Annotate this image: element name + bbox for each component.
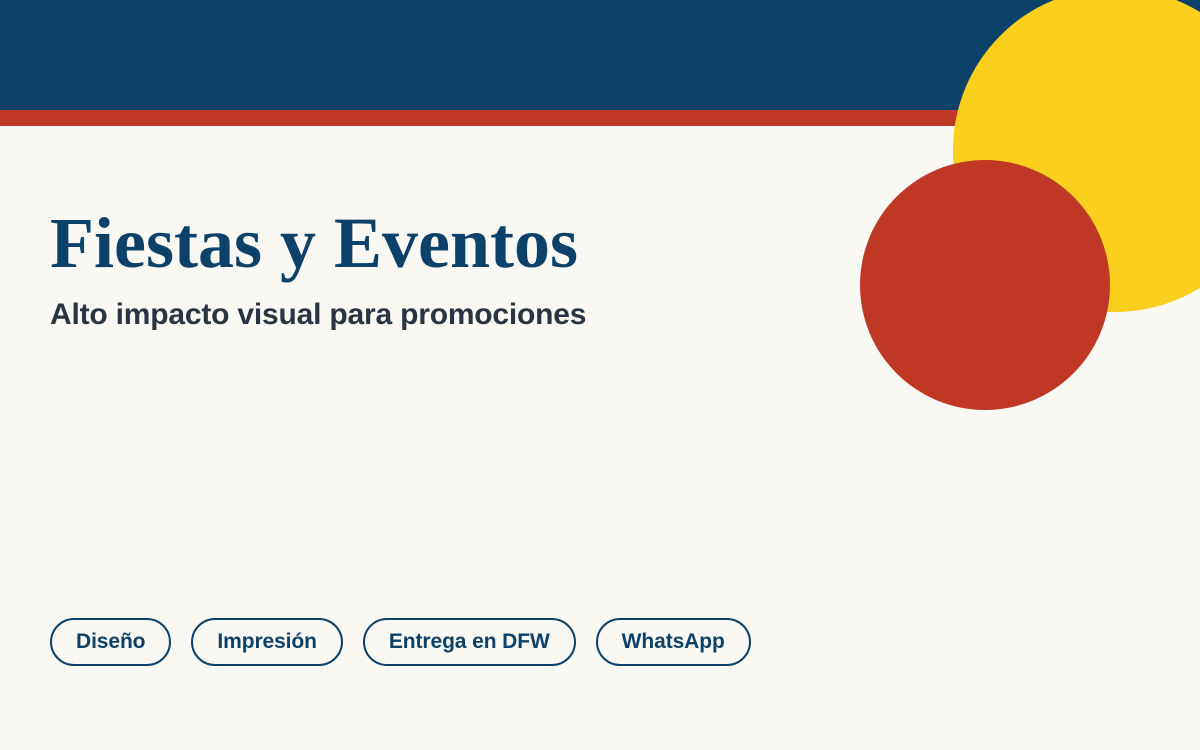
header-bar [0, 0, 1200, 110]
tag-list: Diseño Impresión Entrega en DFW WhatsApp [50, 618, 751, 666]
page-title: Fiestas y Eventos [50, 206, 578, 282]
main-content: Fiestas y Eventos Alto impacto visual pa… [0, 126, 1200, 750]
accent-stripe [0, 110, 1200, 126]
page-subtitle: Alto impacto visual para promociones [50, 298, 586, 332]
tag-pill-whatsapp[interactable]: WhatsApp [596, 618, 751, 666]
promo-banner: Solo Tarjetas DFW Fiestas y Eventos Alto… [0, 0, 1200, 750]
tag-pill-impresion[interactable]: Impresión [191, 618, 342, 666]
tag-pill-entrega-en-dfw[interactable]: Entrega en DFW [363, 618, 576, 666]
tag-pill-diseno[interactable]: Diseño [50, 618, 171, 666]
